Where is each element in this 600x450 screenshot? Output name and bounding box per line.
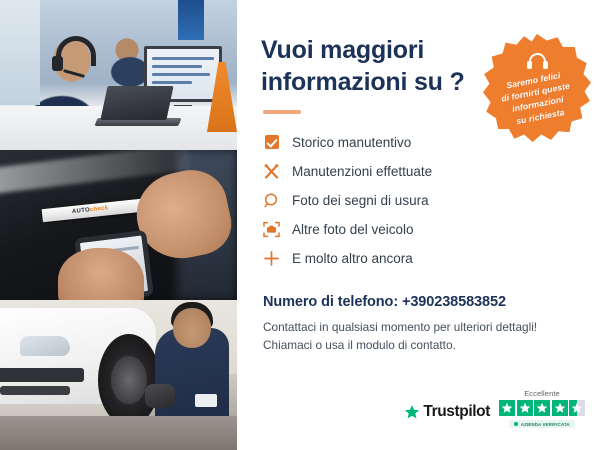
photo-hand-lower [58, 248, 144, 300]
page-title: Vuoi maggiori informazioni su ? [261, 34, 476, 98]
star-1 [499, 400, 515, 416]
list-item-label: E molto altro ancora [292, 251, 413, 266]
trustpilot-logo: Trustpilot [404, 403, 490, 428]
star-4 [552, 400, 568, 416]
trustpilot-name: Trustpilot [423, 403, 490, 421]
contact-note-line-1: Contattaci in qualsiasi momento per ulte… [263, 319, 578, 337]
photo-headlight [20, 336, 70, 356]
car-panel-gap-inspection-photo: AUTOcheck [0, 150, 237, 300]
verified-badge: AZIENDA VERIFICATA [509, 420, 574, 428]
photo-wheel [98, 334, 160, 426]
star-5-half [569, 400, 585, 416]
list-item: E molto altro ancora [263, 244, 578, 272]
call-center-operators-photo [0, 0, 237, 150]
photo-banner [178, 0, 204, 40]
trustpilot-star-icon [404, 404, 420, 420]
photo-uniform-patch [195, 394, 217, 407]
photo-doorway [0, 0, 40, 105]
contact-note-line-2: Chiamaci o usa il modulo di contatto. [263, 337, 578, 355]
trustpilot-rating-block: Eccellente AZIENDA VERIFICATA [499, 389, 585, 428]
star-3 [534, 400, 550, 416]
status-badge: Saremo felici di fornirti queste informa… [483, 34, 591, 142]
photo-grille [0, 368, 84, 382]
list-item-label: Foto dei segni di usura [292, 193, 429, 208]
camera-scan-icon [263, 221, 280, 238]
trustpilot-widget[interactable]: Trustpilot Eccellente AZIENDA VERIFICATA [255, 389, 585, 428]
photo-headset-cup [52, 56, 63, 71]
checkbox-checked-icon [263, 134, 280, 151]
list-item-label: Altre foto del veicolo [292, 222, 414, 237]
promo-card: AUTOcheck [0, 0, 600, 450]
title-divider [263, 110, 301, 114]
trustpilot-rating-label: Eccellente [524, 389, 560, 398]
photo-column: AUTOcheck [0, 0, 237, 450]
list-item: Manutenzioni effettuate [263, 157, 578, 185]
list-item: Foto dei segni di usura [263, 186, 578, 214]
photo-laptop [100, 86, 173, 120]
magnifier-icon [263, 192, 280, 209]
plus-icon [263, 250, 280, 267]
wrench-cross-icon [263, 163, 280, 180]
phone-number[interactable]: Numero di telefono: +390238583852 [263, 294, 578, 310]
feature-list: Storico manutentivo Manutenzioni effettu… [263, 128, 578, 272]
photo-headset-mic [63, 69, 85, 78]
list-item-label: Manutenzioni effettuate [292, 164, 432, 179]
headset-icon [527, 53, 548, 70]
photo-measuring-strip: AUTOcheck [42, 199, 143, 222]
photo-lift-platform [0, 416, 237, 450]
trustpilot-stars [499, 400, 585, 416]
photo-mechanic-head [173, 308, 211, 348]
star-2 [517, 400, 533, 416]
list-item: Altre foto del veicolo [263, 215, 578, 243]
photo-lower-grille [0, 386, 70, 395]
photo-mechanic-glove [145, 384, 175, 408]
list-item-label: Storico manutentivo [292, 135, 411, 150]
verified-check-icon [514, 422, 518, 426]
mechanic-wheel-inspection-photo [0, 300, 237, 450]
verified-label: AZIENDA VERIFICATA [521, 422, 570, 427]
